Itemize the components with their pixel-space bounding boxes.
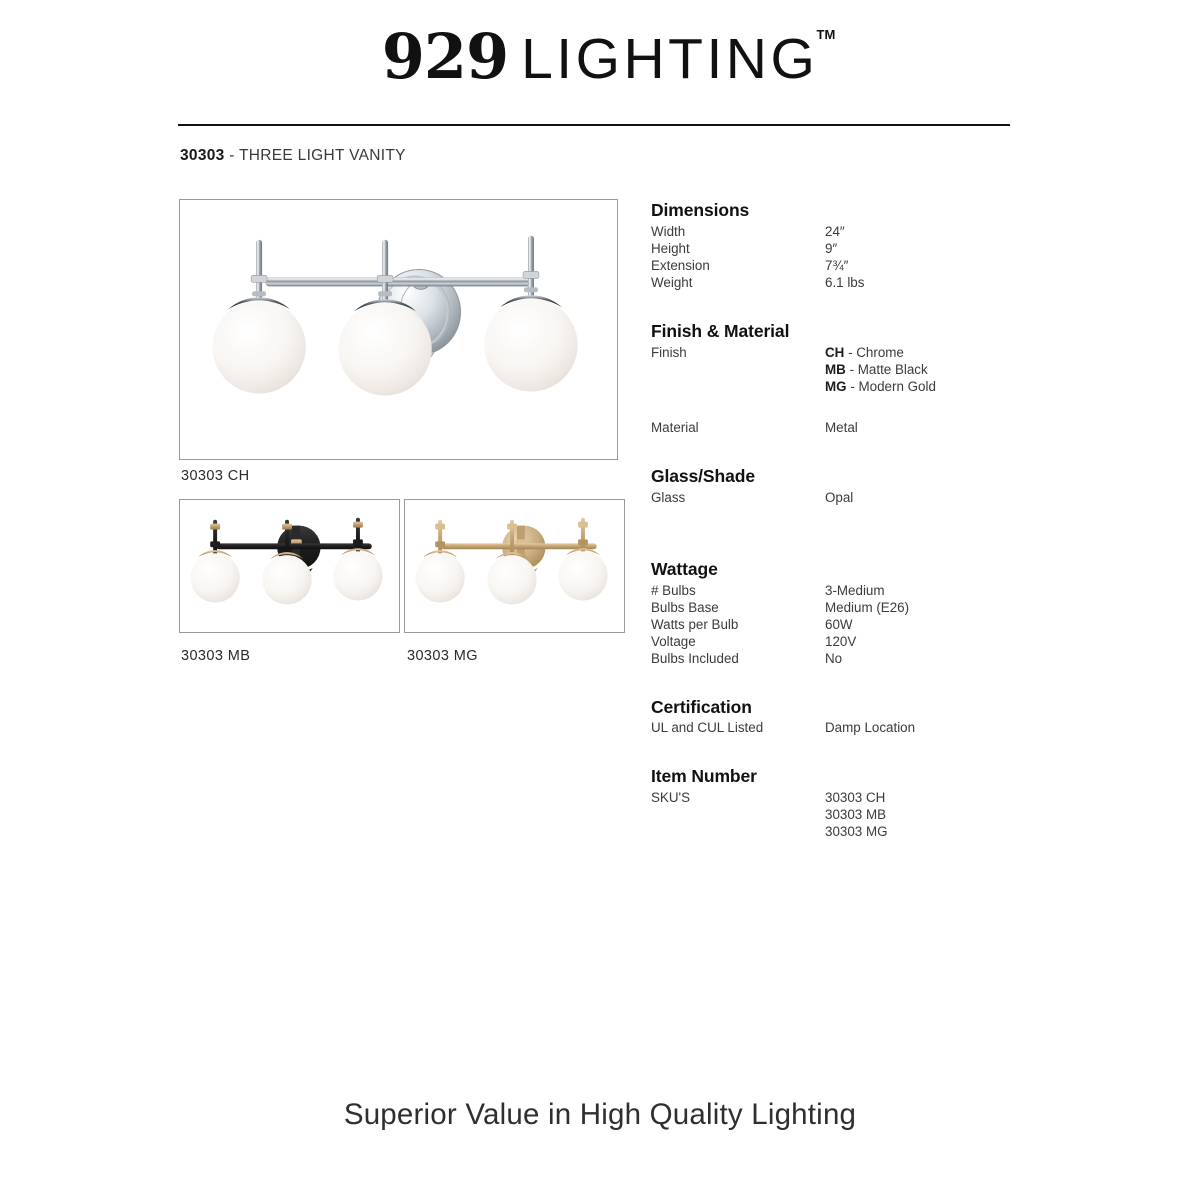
spec-label-bulbs-included: Bulbs Included	[651, 650, 825, 667]
spec-heading-certification: Certification	[651, 697, 1051, 719]
spec-group-wattage: Wattage # Bulbs3-Medium Bulbs BaseMedium…	[651, 559, 1051, 667]
spec-label-glass: Glass	[651, 489, 825, 506]
spec-value-watts-per-bulb: 60W	[825, 616, 853, 633]
spec-row-material: MaterialMetal	[651, 419, 1051, 436]
globe-left	[212, 297, 305, 393]
spec-group-finish-material: Finish & Material FinishCH - Chrome MB -…	[651, 321, 1051, 436]
spec-value-material: Metal	[825, 419, 858, 436]
spec-label-material: Material	[651, 419, 825, 436]
caption-mb: 30303 MB	[181, 648, 250, 664]
fixture-modern-gold-illustration	[405, 500, 624, 632]
spec-value-sku-ch: 30303 CH	[825, 789, 885, 806]
spec-row-extension: Extension7¾″	[651, 257, 1051, 274]
spec-group-item-number: Item Number SKU'S30303 CH 30303 MB 30303…	[651, 766, 1051, 840]
spec-row-ul-cul: UL and CUL ListedDamp Location	[651, 719, 1051, 736]
spec-row-bulbs-included: Bulbs IncludedNo	[651, 650, 1051, 667]
spec-row-watts-per-bulb: Watts per Bulb60W	[651, 616, 1051, 633]
footer-tagline: Superior Value in High Quality Lighting	[0, 1098, 1200, 1132]
spec-heading-dimensions: Dimensions	[651, 200, 1051, 222]
spec-value-height: 9″	[825, 240, 837, 257]
spec-heading-finish-material: Finish & Material	[651, 321, 1051, 343]
spec-heading-item-number: Item Number	[651, 766, 1051, 788]
crossbar	[265, 277, 533, 286]
spec-label-ul-cul: UL and CUL Listed	[651, 719, 825, 736]
finish-name-mb: - Matte Black	[850, 362, 928, 377]
spec-label-height: Height	[651, 240, 825, 257]
spec-row-weight: Weight6.1 lbs	[651, 274, 1051, 291]
spec-label-finish: Finish	[651, 344, 825, 361]
spec-row-finish-ch: FinishCH - Chrome	[651, 344, 1051, 361]
crossbar	[441, 543, 597, 549]
spec-row-finish-mg: MG - Modern Gold	[651, 378, 1051, 395]
spec-heading-wattage: Wattage	[651, 559, 1051, 581]
spec-value-sku-mg: 30303 MG	[825, 823, 888, 840]
spec-group-certification: Certification UL and CUL ListedDamp Loca…	[651, 697, 1051, 737]
spec-label-bulbs-base: Bulbs Base	[651, 599, 825, 616]
globe-right	[484, 295, 577, 391]
spec-row-glass: GlassOpal	[651, 489, 1051, 506]
spec-row-finish-mb: MB - Matte Black	[651, 361, 1051, 378]
spec-label-num-bulbs: # Bulbs	[651, 582, 825, 599]
logo-number: 929	[382, 20, 508, 93]
finish-code-mb: MB	[825, 362, 846, 377]
logo-wordmark: LIGHTING	[521, 27, 818, 91]
spec-row-voltage: Voltage120V	[651, 633, 1051, 650]
spec-value-extension: 7¾″	[825, 257, 848, 274]
finish-code-mg: MG	[825, 379, 847, 394]
spec-group-glass-shade: Glass/Shade GlassOpal	[651, 466, 1051, 506]
spec-label-voltage: Voltage	[651, 633, 825, 650]
product-image-mb	[179, 499, 400, 633]
page-title: 30303 - THREE LIGHT VANITY	[180, 147, 406, 165]
spec-label-watts-per-bulb: Watts per Bulb	[651, 616, 825, 633]
spec-row-height: Height9″	[651, 240, 1051, 257]
fixture-matte-black-illustration	[180, 500, 399, 632]
fixture-chrome-illustration	[180, 200, 617, 459]
spec-value-glass: Opal	[825, 489, 853, 506]
brand-logo: 929LIGHTING TM	[0, 26, 1200, 98]
spec-value-sku-mb: 30303 MB	[825, 806, 886, 823]
globe-right	[333, 548, 382, 600]
crossbar	[216, 543, 372, 549]
spec-heading-glass-shade: Glass/Shade	[651, 466, 1051, 488]
product-image-mg	[404, 499, 625, 633]
spec-group-dimensions: Dimensions Width24″ Height9″ Extension7¾…	[651, 200, 1051, 291]
spec-row-sku-3: 30303 MG	[651, 823, 1051, 840]
caption-mg: 30303 MG	[407, 648, 478, 664]
finish-name-ch: - Chrome	[848, 345, 904, 360]
spec-row-sku-2: 30303 MB	[651, 806, 1051, 823]
spec-value-bulbs-included: No	[825, 650, 842, 667]
finish-code-ch: CH	[825, 345, 844, 360]
product-name: - THREE LIGHT VANITY	[229, 147, 406, 164]
header-divider	[178, 124, 1010, 126]
spec-row-sku-1: SKU'S30303 CH	[651, 789, 1051, 806]
spec-label-extension: Extension	[651, 257, 825, 274]
spec-value-voltage: 120V	[825, 633, 856, 650]
globe-left	[191, 550, 240, 602]
globe-right	[558, 548, 607, 600]
caption-ch: 30303 CH	[181, 468, 250, 484]
spec-value-width: 24″	[825, 223, 845, 240]
product-image-ch	[179, 199, 618, 460]
trademark-icon: TM	[817, 28, 836, 41]
spec-row-width: Width24″	[651, 223, 1051, 240]
finish-name-mg: - Modern Gold	[850, 379, 936, 394]
globe-left	[416, 550, 465, 602]
spec-row-num-bulbs: # Bulbs3-Medium	[651, 582, 1051, 599]
specifications-panel: Dimensions Width24″ Height9″ Extension7¾…	[651, 200, 1051, 840]
spec-value-ul-cul: Damp Location	[825, 719, 915, 736]
spec-value-weight: 6.1 lbs	[825, 274, 864, 291]
spec-value-bulbs-base: Medium (E26)	[825, 599, 909, 616]
spec-value-num-bulbs: 3-Medium	[825, 582, 885, 599]
spec-row-bulbs-base: Bulbs BaseMedium (E26)	[651, 599, 1051, 616]
product-sku: 30303	[180, 147, 225, 164]
spec-label-width: Width	[651, 223, 825, 240]
spec-label-skus: SKU'S	[651, 789, 825, 806]
spec-label-weight: Weight	[651, 274, 825, 291]
